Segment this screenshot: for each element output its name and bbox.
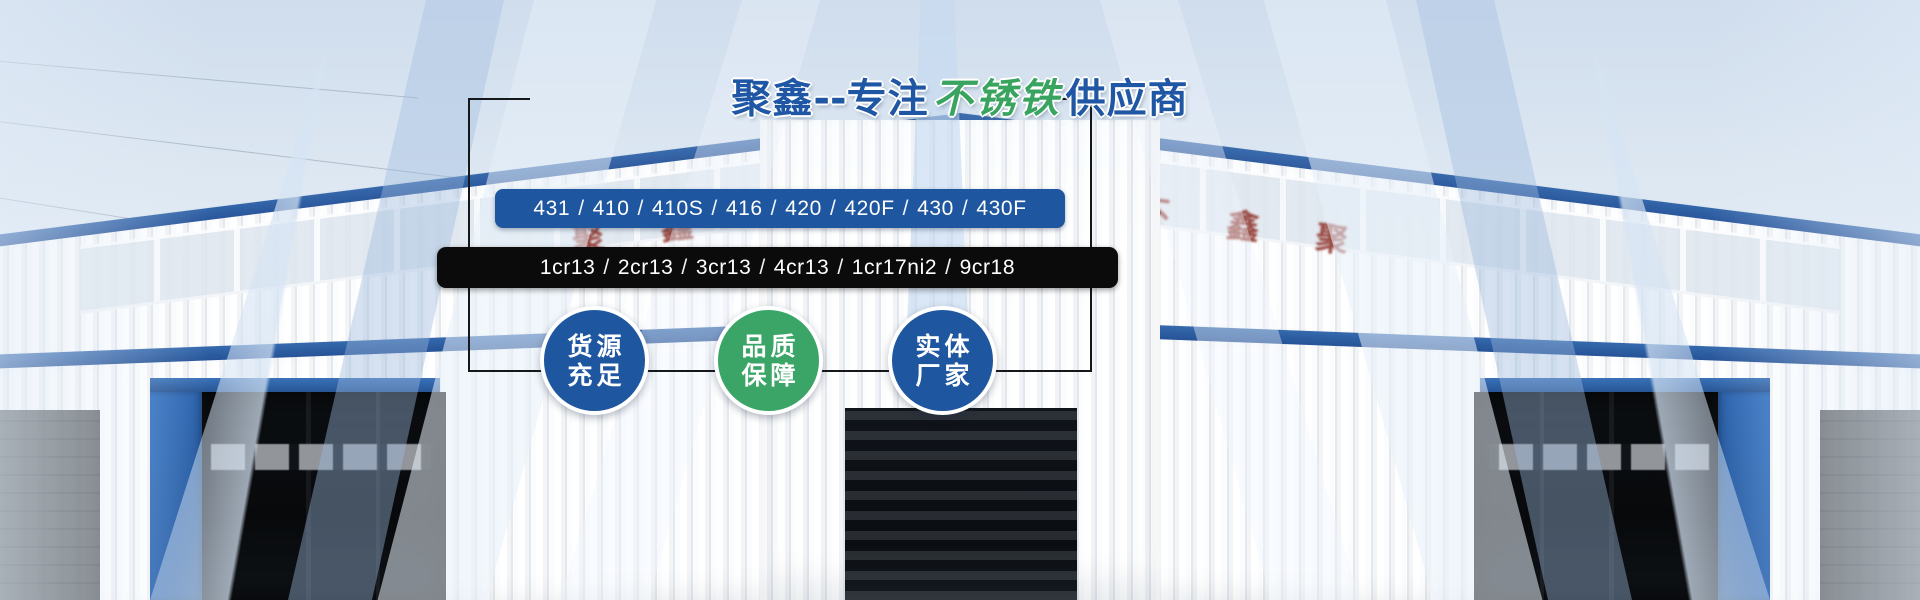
grade-separator: / xyxy=(955,197,975,221)
grade-value: 1cr17ni2 xyxy=(851,256,938,280)
grade-value: 1cr13 xyxy=(539,256,597,280)
grade-separator: / xyxy=(596,256,616,280)
grade-separator: / xyxy=(896,197,916,221)
badge-line-1: 货源 xyxy=(563,332,625,361)
grade-value: 416 xyxy=(725,197,764,221)
grade-value: 430 xyxy=(916,197,955,221)
badge-line-1: 品质 xyxy=(737,332,799,361)
headline-dash: -- xyxy=(813,76,846,122)
grade-value: 2cr13 xyxy=(617,256,675,280)
content-frame-left xyxy=(468,98,470,372)
grade-value: 9cr18 xyxy=(959,256,1017,280)
grade-value: 4cr13 xyxy=(773,256,831,280)
headline-focus: 专注 xyxy=(847,76,929,122)
badge-supply: 货源 充足 xyxy=(540,306,649,415)
grade-bar-secondary: 1cr13 / 2cr13 / 3cr13 / 4cr13 / 1cr17ni2… xyxy=(437,247,1118,288)
grade-separator: / xyxy=(704,197,724,221)
grade-separator: / xyxy=(764,197,784,221)
content-frame-right xyxy=(1090,98,1092,372)
grade-separator: / xyxy=(571,197,591,221)
grade-value: 410 xyxy=(592,197,631,221)
grade-value: 420 xyxy=(784,197,823,221)
grade-separator: / xyxy=(823,197,843,221)
badge-line-2: 厂家 xyxy=(911,361,973,390)
headline-supplier: 供应商 xyxy=(1066,76,1189,122)
badge-line-2: 保障 xyxy=(737,361,799,390)
headline-brand: 聚鑫 xyxy=(731,76,813,122)
grade-separator: / xyxy=(752,256,772,280)
grade-value: 430F xyxy=(975,197,1027,221)
headline-highlight: 不锈铁 xyxy=(929,76,1066,122)
grade-value: 410S xyxy=(651,197,704,221)
grade-value: 420F xyxy=(843,197,895,221)
grade-separator: / xyxy=(830,256,850,280)
badge-line-1: 实体 xyxy=(911,332,973,361)
grade-separator: / xyxy=(938,256,958,280)
grade-separator: / xyxy=(630,197,650,221)
grade-separator: / xyxy=(674,256,694,280)
grade-value: 3cr13 xyxy=(695,256,753,280)
grade-bar-primary: 431 / 410 / 410S / 416 / 420 / 420F / 43… xyxy=(495,189,1065,228)
promo-banner: 锈 不 鑫 聚 锈 不 鑫 聚 xyxy=(0,0,1920,600)
headline: 聚鑫--专注不锈铁供应商 xyxy=(0,76,1920,122)
badge-factory: 实体 厂家 xyxy=(888,306,997,415)
badge-line-2: 充足 xyxy=(563,361,625,390)
grade-value: 431 xyxy=(532,197,571,221)
badge-quality: 品质 保障 xyxy=(714,306,823,415)
banner-content: 聚鑫--专注不锈铁供应商 431 / 410 / 410S / 416 / 42… xyxy=(0,0,1920,600)
